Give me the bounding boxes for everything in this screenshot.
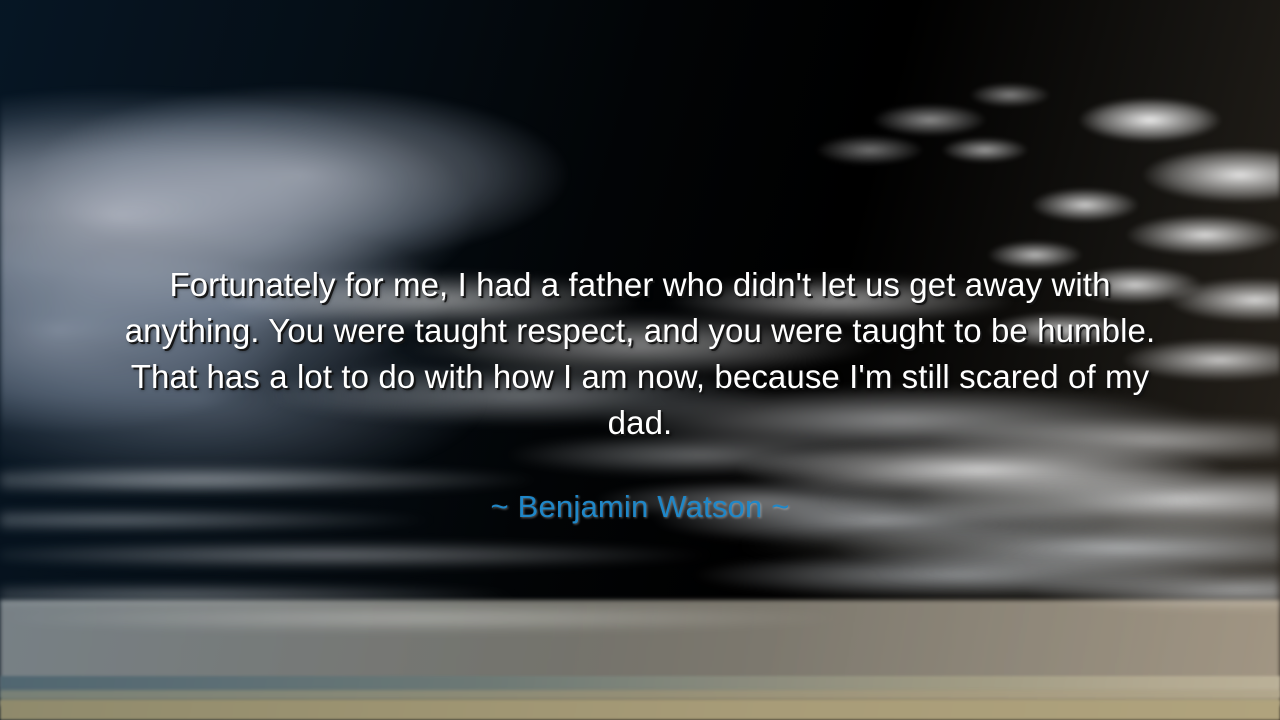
quote-author-attribution: ~ Benjamin Watson ~ — [105, 446, 1175, 526]
quote-body-text: Fortunately for me, I had a father who d… — [105, 262, 1175, 446]
quote-text-block: Fortunately for me, I had a father who d… — [105, 262, 1175, 526]
quote-image-canvas: Fortunately for me, I had a father who d… — [0, 0, 1280, 720]
foreground-ground-strip — [0, 700, 1280, 720]
